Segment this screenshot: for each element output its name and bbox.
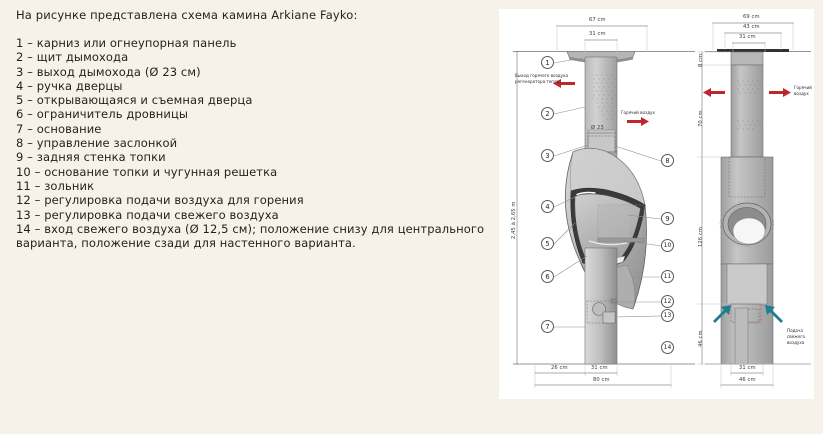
- callout-10[interactable]: 10: [661, 239, 674, 252]
- dim-front-bottom-total: 80 cm: [593, 377, 610, 383]
- callout-12[interactable]: 12: [661, 295, 674, 308]
- hot-air-side-right-arrow-icon: [769, 88, 791, 97]
- callout-5[interactable]: 5: [541, 237, 554, 250]
- dim-height-collar: 8 cm: [698, 54, 704, 67]
- hot-air-side-left-arrow-icon: [703, 88, 725, 97]
- dim-side-top-mid: 43 cm: [743, 24, 760, 30]
- legend-panel: На рисунке представлена схема камина Ark…: [16, 8, 486, 250]
- list-item: 13 – регулировка подачи свежего воздуха: [16, 208, 486, 222]
- legend-list: 1 – карниз или огнеупорная панель 2 – щи…: [16, 36, 486, 250]
- annotation-hot-air-side-line2: воздух: [794, 91, 809, 96]
- list-item: 8 – управление заслонкой: [16, 136, 486, 150]
- callout-6[interactable]: 6: [541, 270, 554, 283]
- list-item: 6 – ограничитель дровницы: [16, 107, 486, 121]
- dim-front-top-outer: 67 cm: [589, 17, 606, 23]
- annotation-fresh-air-line2: свежего: [787, 334, 805, 339]
- list-item: 7 – основание: [16, 122, 486, 136]
- dim-side-bottom-total: 46 cm: [739, 377, 756, 383]
- annotation-hot-air-out-line2: регенератора тепла: [515, 79, 559, 84]
- dim-front-bottom-left: 26 cm: [551, 365, 568, 371]
- list-item: 4 – ручка дверцы: [16, 79, 486, 93]
- list-item: 9 – задняя стенка топки: [16, 150, 486, 164]
- callout-9[interactable]: 9: [661, 212, 674, 225]
- list-item: 3 – выход дымохода (Ø 23 см): [16, 65, 486, 79]
- callout-4[interactable]: 4: [541, 200, 554, 213]
- dim-side-bottom-inner: 31 cm: [739, 365, 756, 371]
- dim-side-top-inner: 31 cm: [739, 34, 756, 40]
- annotation-hot-air-front: Горячий воздух: [621, 110, 655, 115]
- annotation-hot-air-side-line1: Горячий: [794, 85, 812, 90]
- callout-14[interactable]: 14: [661, 341, 674, 354]
- callout-1[interactable]: 1: [541, 56, 554, 69]
- dim-front-bottom-mid: 31 cm: [591, 365, 608, 371]
- callout-11[interactable]: 11: [661, 270, 674, 283]
- list-item: 12 – регулировка подачи воздуха для горе…: [16, 193, 486, 207]
- dim-height-total: 2,45 à 2,65 m: [511, 201, 517, 239]
- callout-2[interactable]: 2: [541, 107, 554, 120]
- hot-air-right-arrow-icon: [627, 117, 649, 126]
- list-item: 10 – основание топки и чугунная решетка: [16, 165, 486, 179]
- list-item: 11 – зольник: [16, 179, 486, 193]
- drawing-sheet: 67 cm 31 cm Ø 23 26 cm 31 cm 80 cm 69 cm…: [499, 9, 814, 399]
- list-item: 2 – щит дымохода: [16, 50, 486, 64]
- list-item: 14 – вход свежего воздуха (Ø 12,5 см); п…: [16, 222, 486, 251]
- callout-7[interactable]: 7: [541, 320, 554, 333]
- dim-side-top-outer: 69 cm: [743, 14, 760, 20]
- list-item: 5 – открывающаяся и съемная дверца: [16, 93, 486, 107]
- dim-height-body: 126 cm: [698, 227, 704, 247]
- screenshot-root: На рисунке представлена схема камина Ark…: [0, 0, 823, 434]
- dim-flue-diameter: Ø 23: [591, 125, 604, 131]
- callout-13[interactable]: 13: [661, 309, 674, 322]
- annotation-hot-air-out-line1: Выход горячего воздуха: [515, 73, 568, 78]
- legend-lead-text: На рисунке представлена схема камина Ark…: [16, 8, 486, 22]
- annotation-fresh-air-line3: воздуха: [787, 340, 804, 345]
- annotation-fresh-air-line1: Подача: [787, 328, 803, 333]
- callout-3[interactable]: 3: [541, 149, 554, 162]
- list-item: 1 – карниз или огнеупорная панель: [16, 36, 486, 50]
- callout-8[interactable]: 8: [661, 154, 674, 167]
- diagram-panel: 67 cm 31 cm Ø 23 26 cm 31 cm 80 cm 69 cm…: [490, 0, 823, 434]
- dim-height-flue: 70 cm: [698, 110, 704, 127]
- dim-height-base: 46 cm: [698, 330, 704, 347]
- dim-front-top-inner: 31 cm: [589, 31, 606, 37]
